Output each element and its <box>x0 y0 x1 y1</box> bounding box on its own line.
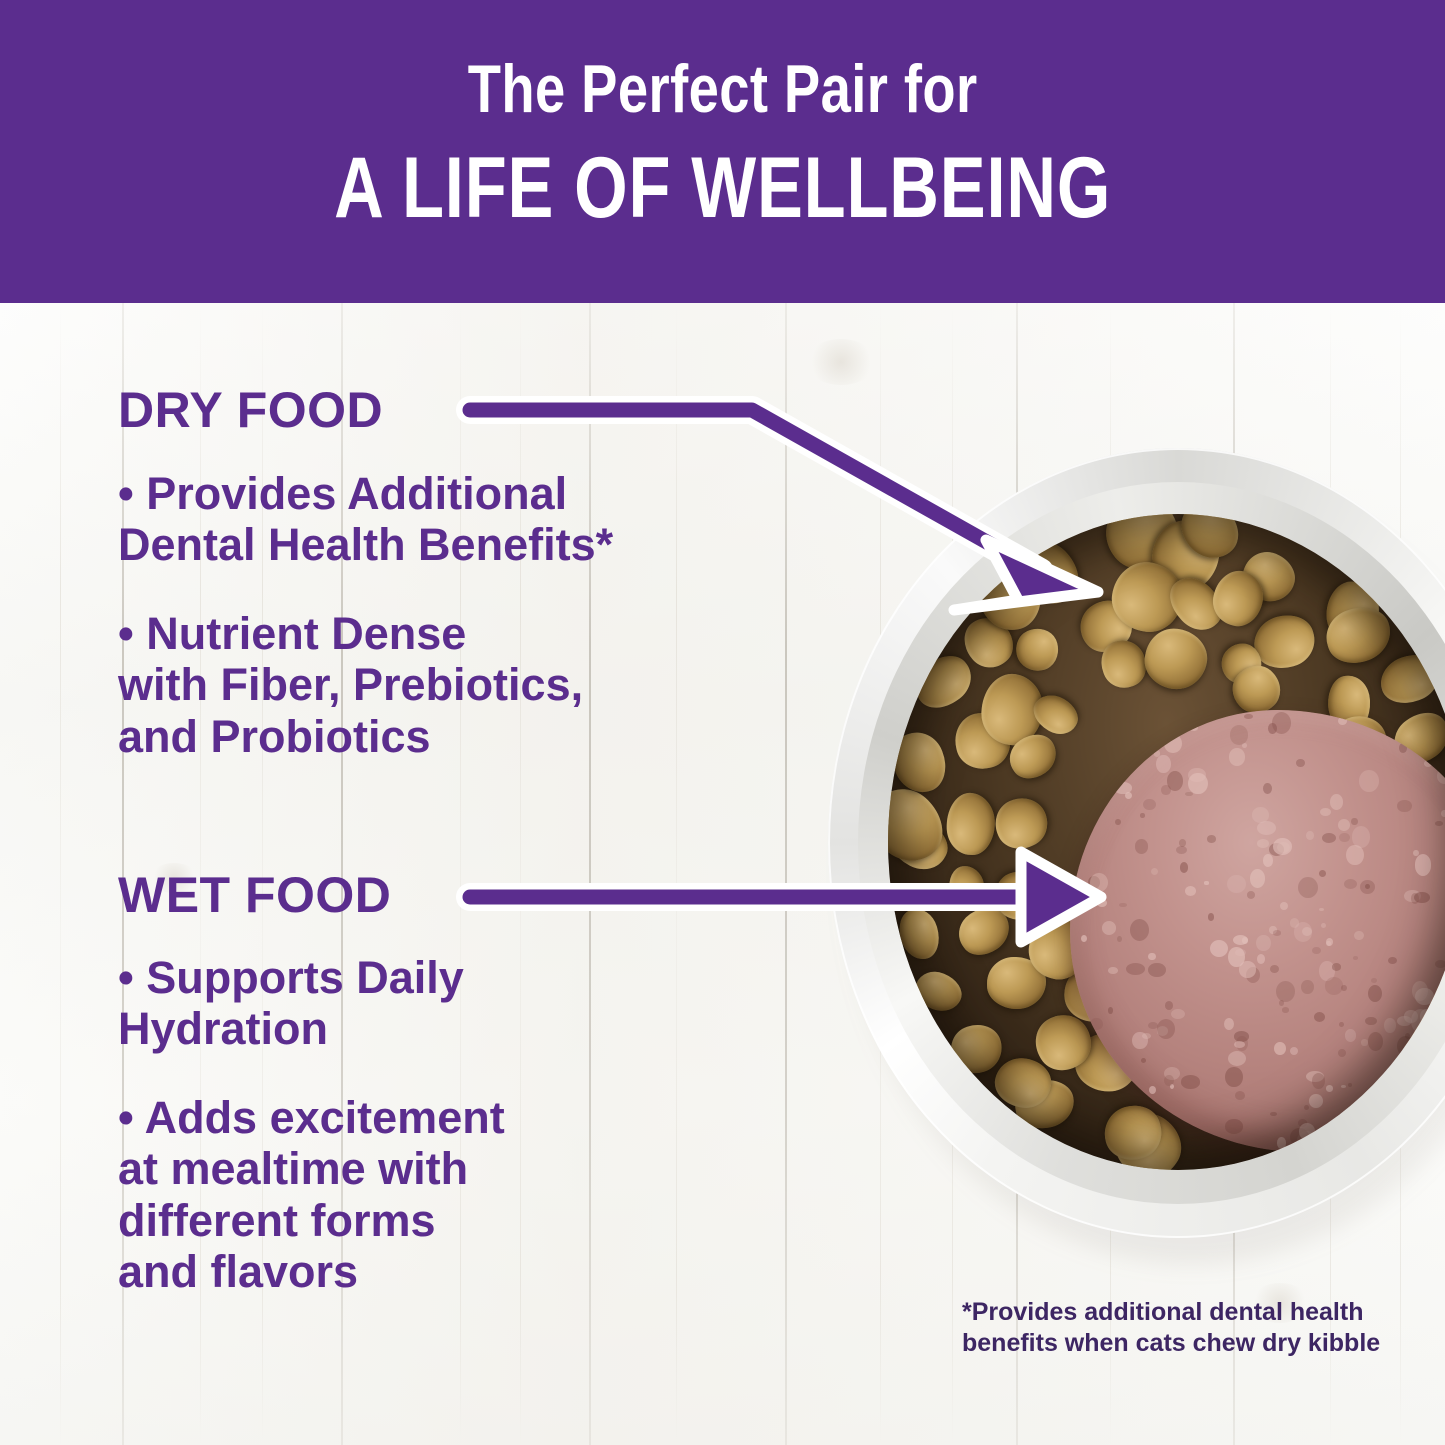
pate-texture-speck <box>1130 919 1149 941</box>
pate-texture-speck <box>1077 1113 1084 1122</box>
pate-texture-speck <box>1185 792 1193 797</box>
kibble-piece <box>1025 1005 1101 1081</box>
kibble-piece <box>987 789 1055 857</box>
pate-texture-speck <box>1279 1000 1284 1006</box>
pate-texture-speck <box>1164 1075 1174 1086</box>
kibble-piece <box>1027 688 1084 741</box>
pate-texture-speck <box>1225 1067 1243 1088</box>
pate-texture-speck <box>1108 967 1117 974</box>
pate-texture-speck <box>1192 726 1197 731</box>
pate-texture-speck <box>1090 873 1108 893</box>
pate-texture-speck <box>1151 868 1158 875</box>
pate-texture-speck <box>1135 1102 1150 1117</box>
kibble-piece <box>1171 987 1235 1052</box>
pate-texture-speck <box>1229 748 1245 765</box>
pate-texture-speck <box>1246 967 1260 983</box>
pate-texture-speck <box>1115 819 1120 825</box>
pate-texture-speck <box>1280 902 1288 910</box>
pate-texture-speck <box>1314 1012 1326 1022</box>
kibble-piece <box>1275 978 1353 1050</box>
pate-texture-speck <box>1371 978 1377 983</box>
pate-texture-speck <box>1118 710 1132 714</box>
pate-texture-speck <box>1397 800 1411 812</box>
pate-texture-speck <box>1132 1032 1147 1050</box>
pate-texture-speck <box>1403 724 1410 730</box>
kibble-piece <box>1323 580 1381 647</box>
pate-texture-speck <box>1298 877 1318 898</box>
pate-texture-speck <box>1070 747 1074 754</box>
pate-texture-speck <box>1294 922 1313 941</box>
pate-texture-speck <box>1365 884 1370 889</box>
header-banner: The Perfect Pair for A LIFE OF WELLBEING <box>0 0 1445 303</box>
kibble-piece <box>1061 962 1125 1025</box>
pate-texture-speck <box>1290 918 1300 928</box>
pate-texture-speck <box>1104 732 1123 744</box>
pate-texture-speck <box>1352 826 1371 848</box>
kibble-piece <box>978 672 1046 749</box>
kibble-piece <box>949 707 1016 775</box>
kibble-piece <box>1233 1019 1297 1074</box>
kibble-piece <box>1207 566 1269 631</box>
pate-texture-speck <box>1312 1073 1325 1089</box>
kibble-piece <box>1074 1033 1138 1092</box>
pate-texture-speck <box>1312 947 1321 954</box>
kibble-piece <box>950 898 1018 964</box>
pate-texture-speck <box>1277 842 1290 853</box>
pate-texture-speck <box>1404 890 1421 903</box>
pate-texture-speck <box>1321 923 1326 928</box>
pate-texture-speck <box>1290 1047 1298 1055</box>
kibble-piece <box>1248 609 1321 675</box>
pate-texture-speck <box>1306 1071 1324 1082</box>
pate-texture-speck <box>1188 722 1199 730</box>
pate-texture-speck <box>1230 725 1248 744</box>
pate-texture-speck <box>1330 794 1344 810</box>
pate-texture-speck <box>1149 1086 1156 1094</box>
pate-texture-speck <box>1338 717 1347 725</box>
pate-texture-speck <box>1441 810 1445 817</box>
kibble-piece <box>1337 871 1414 945</box>
dry-food-heading: DRY FOOD <box>118 385 383 435</box>
pate-texture-speck <box>1341 985 1347 992</box>
pate-texture-speck <box>1207 835 1216 842</box>
kibble-piece <box>955 608 1023 677</box>
pate-texture-speck <box>1257 954 1266 964</box>
pate-texture-speck <box>1344 879 1357 889</box>
pate-texture-speck <box>1225 1119 1243 1133</box>
wet-food-bullet-2: • Adds excitement at mealtime with diffe… <box>118 1092 505 1297</box>
pate-texture-speck <box>1299 1123 1316 1140</box>
pate-texture-speck <box>1326 941 1331 947</box>
kibble-piece <box>1189 1042 1244 1096</box>
kibble-piece <box>1296 721 1346 760</box>
pate-texture-speck <box>1413 850 1419 856</box>
pate-texture-speck <box>1133 716 1140 723</box>
pate-texture-speck <box>1338 1049 1346 1057</box>
pate-texture-speck <box>1070 1062 1084 1084</box>
pate-texture-speck <box>1164 734 1182 754</box>
pate-texture-speck <box>1325 977 1343 994</box>
kibble-piece <box>946 793 996 856</box>
pate-texture-speck <box>1242 743 1247 748</box>
pate-texture-speck <box>1360 880 1375 894</box>
kibble-piece <box>1107 989 1185 1067</box>
pate-texture-speck <box>1075 710 1089 722</box>
kibble-piece <box>1236 544 1303 609</box>
pate-texture-speck <box>1141 1058 1147 1064</box>
pate-texture-speck <box>1114 782 1131 793</box>
kibble-piece <box>1102 1101 1193 1170</box>
pate-texture-speck <box>1101 1121 1110 1129</box>
pate-texture-speck <box>1430 1067 1445 1084</box>
pate-texture-speck <box>1081 710 1089 717</box>
kibble-piece <box>987 957 1046 1009</box>
pate-texture-speck <box>1086 799 1106 812</box>
wet-food-heading: WET FOOD <box>118 870 391 920</box>
pate-texture-speck <box>1250 869 1265 887</box>
pate-texture-speck <box>1235 1091 1245 1100</box>
pate-texture-speck <box>1440 1129 1445 1135</box>
pate-texture-speck <box>1326 1085 1334 1092</box>
pate-texture-speck <box>1348 1083 1353 1087</box>
pate-texture-speck <box>1399 743 1407 753</box>
pate-texture-speck <box>1135 839 1149 854</box>
pate-texture-speck <box>1252 807 1269 822</box>
pate-texture-speck <box>1282 1007 1289 1013</box>
kibble-piece <box>1385 703 1445 773</box>
pate-texture-speck <box>1332 963 1341 970</box>
pate-texture-speck <box>1388 957 1397 964</box>
pate-texture-speck <box>1359 770 1378 791</box>
footnote-text: *Provides additional dental health benef… <box>962 1297 1382 1358</box>
pate-texture-speck <box>1272 712 1291 734</box>
pate-texture-speck <box>1143 799 1155 810</box>
pate-texture-speck <box>1233 935 1248 945</box>
pate-texture-speck <box>1397 1016 1412 1027</box>
kibble-piece <box>888 775 957 875</box>
pate-texture-speck <box>1322 833 1336 843</box>
pate-texture-speck <box>1326 938 1333 947</box>
pate-texture-speck <box>1204 881 1209 884</box>
pate-texture-speck <box>1125 792 1132 799</box>
header-title-line-2: A LIFE OF WELLBEING <box>334 145 1111 231</box>
pate-texture-speck <box>1188 773 1207 795</box>
pate-texture-speck <box>1087 1118 1092 1124</box>
pate-texture-speck <box>1423 1051 1428 1057</box>
pate-texture-speck <box>1269 843 1284 856</box>
pate-texture-speck <box>1157 1019 1175 1039</box>
pate-texture-speck <box>1257 821 1277 835</box>
kibble-piece <box>1402 879 1445 948</box>
kibble-piece <box>1286 908 1343 964</box>
pate-texture-speck <box>1274 1042 1286 1056</box>
pate-texture-speck <box>1426 1022 1444 1036</box>
pate-texture-speck <box>1268 723 1277 735</box>
pate-texture-speck <box>1185 886 1196 896</box>
pate-texture-speck <box>1368 985 1382 1002</box>
pate-texture-speck <box>1270 965 1280 974</box>
infographic-canvas: The Perfect Pair for A LIFE OF WELLBEING… <box>0 0 1445 1445</box>
pate-texture-speck <box>1412 1042 1417 1045</box>
pate-texture-speck <box>1119 903 1127 908</box>
kibble-piece <box>1227 1088 1281 1135</box>
pate-texture-speck <box>1351 818 1357 825</box>
header-title-line-1: The Perfect Pair for <box>468 55 978 123</box>
pate-texture-speck <box>1128 1126 1144 1142</box>
pate-texture-speck <box>1157 1026 1168 1035</box>
pate-texture-speck <box>1171 1009 1185 1019</box>
pate-texture-speck <box>1121 1106 1129 1115</box>
pate-texture-speck <box>1269 926 1276 935</box>
kibble-piece <box>1401 843 1445 937</box>
pate-texture-speck <box>1353 956 1358 959</box>
kibble-piece <box>1097 1099 1167 1167</box>
pate-texture-speck <box>1188 768 1206 783</box>
kibble-piece <box>1171 514 1250 570</box>
pate-texture-speck <box>1320 808 1331 816</box>
pate-texture-speck <box>1296 759 1305 768</box>
pate-texture-speck <box>1235 949 1246 956</box>
pate-texture-speck <box>1234 1041 1245 1048</box>
pate-texture-speck <box>1404 1010 1417 1022</box>
kibble-piece <box>888 809 955 878</box>
pate-texture-speck <box>1339 1022 1344 1027</box>
pate-texture-speck <box>1154 1138 1161 1147</box>
kibble-piece <box>1313 932 1387 1006</box>
pate-texture-speck <box>1435 821 1443 827</box>
kibble-piece <box>1307 812 1371 876</box>
pate-texture-speck <box>1108 1007 1114 1014</box>
kibble-piece <box>1070 591 1142 662</box>
pate-texture-speck <box>1247 891 1255 899</box>
pate-texture-speck <box>1384 1018 1395 1033</box>
pate-texture-speck <box>1097 899 1107 907</box>
kibble-piece <box>1134 1033 1202 1103</box>
pate-texture-speck <box>1087 754 1095 761</box>
pate-texture-speck <box>1179 839 1187 847</box>
pate-texture-speck <box>1302 927 1312 937</box>
pate-texture-speck <box>1070 1077 1071 1086</box>
pate-texture-speck <box>1164 1067 1180 1080</box>
pate-texture-speck <box>1437 768 1445 784</box>
pate-texture-speck <box>1304 1105 1309 1110</box>
pate-texture-speck <box>1165 1001 1173 1010</box>
pate-texture-speck <box>1236 1036 1248 1051</box>
pate-texture-speck <box>1301 980 1314 995</box>
pate-texture-speck <box>1415 988 1434 1006</box>
pate-texture-speck <box>1257 839 1269 848</box>
dry-food-bullet-1: • Provides Additional Dental Health Bene… <box>118 468 613 571</box>
kibble-piece <box>1140 625 1211 694</box>
kibble-piece <box>1326 711 1393 777</box>
kibble-piece <box>1242 949 1320 1026</box>
pate-texture-speck <box>1117 710 1131 714</box>
pate-texture-speck <box>1156 755 1170 773</box>
pate-texture-speck <box>1411 893 1420 904</box>
pate-texture-speck <box>1070 1042 1078 1052</box>
pate-texture-speck <box>1242 937 1249 944</box>
pate-texture-speck <box>1354 931 1364 941</box>
pate-texture-speck <box>1228 947 1245 968</box>
kibble-piece <box>1324 1039 1373 1087</box>
pate-texture-speck <box>1148 1022 1158 1029</box>
wet-food-bullet-1: • Supports Daily Hydration <box>118 952 464 1055</box>
kibble-piece <box>989 866 1048 926</box>
kibble-piece <box>1092 514 1193 585</box>
pate-texture-speck <box>1433 1047 1442 1055</box>
kibble-piece <box>946 863 987 911</box>
pate-texture-speck <box>1319 870 1326 877</box>
pate-texture-speck <box>1365 1017 1376 1025</box>
kibble-piece <box>1001 726 1063 787</box>
pate-texture-speck <box>1126 963 1146 975</box>
pate-texture-speck <box>1117 936 1122 942</box>
kibble-piece <box>1145 514 1226 597</box>
kibble-piece <box>1023 911 1094 985</box>
kibble-piece <box>1413 792 1445 848</box>
pate-texture-speck <box>1405 1033 1410 1039</box>
pate-texture-speck <box>1263 783 1272 795</box>
kibble-piece <box>1360 782 1431 853</box>
pate-texture-speck <box>1414 892 1429 903</box>
pate-texture-speck <box>1346 845 1363 865</box>
pate-texture-speck <box>1087 752 1093 757</box>
pate-texture-speck <box>1088 876 1100 890</box>
pate-texture-speck <box>1306 831 1314 839</box>
kibble-piece <box>1106 556 1189 638</box>
kibble-piece <box>1335 835 1418 911</box>
pate-texture-speck <box>1167 771 1183 791</box>
pate-texture-speck <box>1339 833 1349 842</box>
pate-texture-speck <box>1151 733 1164 745</box>
pate-texture-speck <box>1412 981 1428 1002</box>
pate-texture-speck <box>1161 785 1170 795</box>
pate-texture-speck <box>1081 935 1087 942</box>
pate-texture-speck <box>1148 963 1166 978</box>
pate-texture-speck <box>1361 1039 1367 1045</box>
pate-texture-speck <box>1263 854 1273 867</box>
pate-texture-speck <box>1208 913 1214 920</box>
pate-texture-speck <box>1079 1095 1097 1110</box>
pate-texture-speck <box>1273 930 1282 935</box>
kibble-piece <box>1207 991 1264 1043</box>
kibble-piece <box>1094 634 1152 694</box>
pate-texture-speck <box>1319 961 1335 981</box>
pate-texture-speck <box>1256 935 1270 951</box>
dry-food-bullet-2: • Nutrient Dense with Fiber, Prebiotics,… <box>118 608 583 762</box>
pate-texture-speck <box>1309 1094 1323 1107</box>
kibble-piece <box>1012 625 1063 676</box>
pate-texture-speck <box>1234 1031 1249 1042</box>
pate-texture-speck <box>1180 862 1188 872</box>
pate-texture-speck <box>1239 961 1255 977</box>
bowl-interior <box>888 514 1445 1170</box>
pate-texture-speck <box>1244 714 1253 719</box>
pate-texture-speck <box>1227 875 1246 893</box>
pate-texture-speck <box>1319 908 1324 911</box>
kibble-piece <box>1328 675 1372 733</box>
kibble-piece <box>1297 770 1358 831</box>
pate-texture-speck <box>1138 1129 1147 1136</box>
pate-texture-speck <box>1298 1119 1307 1126</box>
pate-texture-speck <box>1224 1018 1234 1030</box>
pate-texture-speck <box>1341 1085 1346 1088</box>
pate-texture-speck <box>1368 1032 1383 1051</box>
pate-texture-speck <box>1270 1112 1277 1117</box>
pate-texture-speck <box>1435 960 1445 968</box>
pate-texture-speck <box>1228 1051 1247 1067</box>
pate-texture-speck <box>1131 1105 1145 1118</box>
pate-texture-speck <box>1181 1075 1200 1088</box>
pate-texture-speck <box>1176 846 1187 854</box>
pate-texture-speck <box>1276 981 1295 1002</box>
pate-texture-speck <box>1140 813 1144 817</box>
pate-texture-speck <box>1090 1018 1103 1030</box>
pate-texture-speck <box>1273 838 1292 855</box>
pate-texture-speck <box>1210 940 1228 957</box>
pate-texture-speck <box>1377 1081 1386 1090</box>
wet-pate-mound <box>1070 710 1445 1152</box>
pet-food-bowl-image <box>828 448 1445 1254</box>
pate-texture-speck <box>1148 953 1155 961</box>
pate-texture-speck <box>1142 1033 1151 1039</box>
pate-texture-speck <box>1345 1029 1357 1042</box>
pate-texture-speck <box>1407 1050 1422 1069</box>
pate-texture-speck <box>1415 854 1432 875</box>
kibble-piece <box>1160 568 1231 640</box>
kibble-piece <box>1223 656 1289 722</box>
pate-texture-speck <box>1154 750 1161 756</box>
pate-texture-speck <box>1424 760 1432 767</box>
pate-texture-speck <box>1085 1101 1089 1105</box>
pate-texture-speck <box>1277 1137 1286 1149</box>
kibble-piece <box>1213 635 1269 691</box>
pate-texture-speck <box>1170 1084 1174 1089</box>
pate-texture-speck <box>1338 819 1350 831</box>
pate-texture-speck <box>1102 921 1116 935</box>
